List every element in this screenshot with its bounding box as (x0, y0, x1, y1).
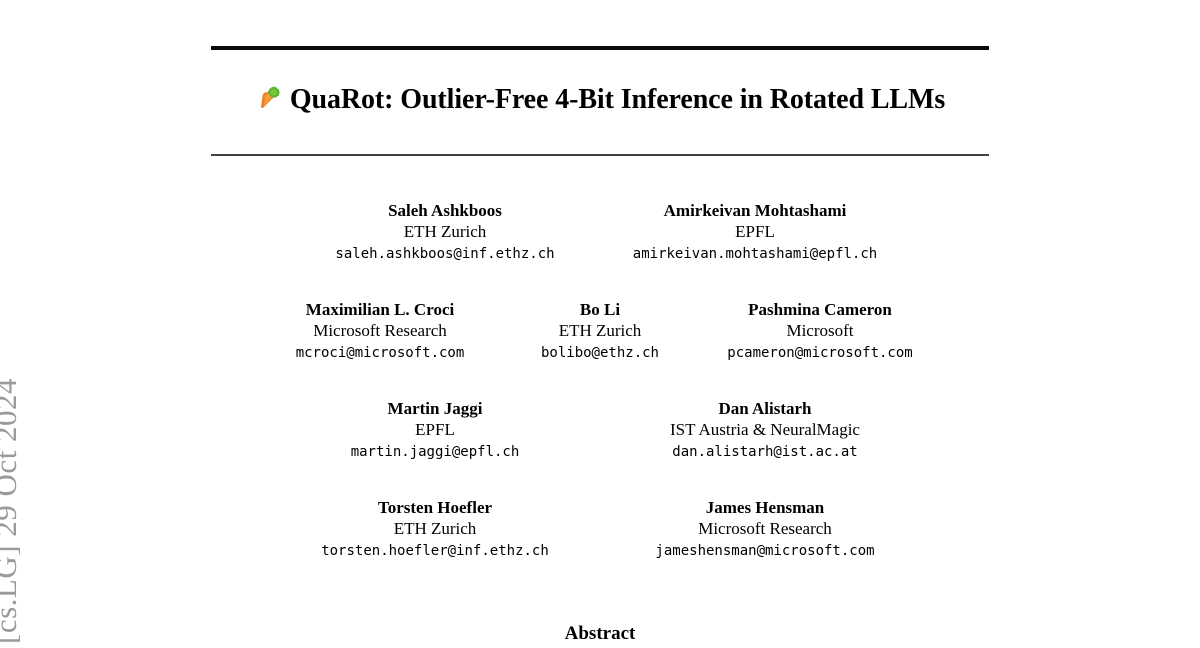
paper-page: QuaRot: Outlier-Free 4-Bit Inference in … (211, 0, 989, 648)
author-name: Dan Alistarh (600, 398, 930, 419)
author-block: Amirkeivan Mohtashami EPFL amirkeivan.mo… (600, 200, 910, 265)
author-email[interactable]: martin.jaggi@epfl.ch (270, 441, 600, 463)
author-email[interactable]: bolibo@ethz.ch (505, 342, 695, 364)
author-affiliation: ETH Zurich (290, 221, 600, 243)
author-name: James Hensman (600, 497, 930, 518)
author-affiliation: Microsoft Research (255, 320, 505, 342)
author-affiliation: ETH Zurich (270, 518, 600, 540)
page-title-text: QuaRot: Outlier-Free 4-Bit Inference in … (290, 83, 945, 117)
author-email[interactable]: dan.alistarh@ist.ac.at (600, 441, 930, 463)
author-email[interactable]: pcameron@microsoft.com (695, 342, 945, 364)
author-block: James Hensman Microsoft Research jameshe… (600, 497, 930, 562)
author-row: Martin Jaggi EPFL martin.jaggi@epfl.ch D… (211, 398, 989, 463)
author-email[interactable]: amirkeivan.mohtashami@epfl.ch (600, 243, 910, 265)
author-name: Bo Li (505, 299, 695, 320)
author-affiliation: Microsoft (695, 320, 945, 342)
author-affiliation: Microsoft Research (600, 518, 930, 540)
page-title: QuaRot: Outlier-Free 4-Bit Inference in … (211, 82, 989, 117)
author-block: Maximilian L. Croci Microsoft Research m… (255, 299, 505, 364)
author-block: Bo Li ETH Zurich bolibo@ethz.ch (505, 299, 695, 364)
author-row: Maximilian L. Croci Microsoft Research m… (211, 299, 989, 364)
author-block: Pashmina Cameron Microsoft pcameron@micr… (695, 299, 945, 364)
author-row: Saleh Ashkboos ETH Zurich saleh.ashkboos… (211, 200, 989, 265)
author-name: Martin Jaggi (270, 398, 600, 419)
author-list: Saleh Ashkboos ETH Zurich saleh.ashkboos… (211, 200, 989, 596)
author-affiliation: IST Austria & NeuralMagic (600, 419, 930, 441)
author-block: Martin Jaggi EPFL martin.jaggi@epfl.ch (270, 398, 600, 463)
author-name: Maximilian L. Croci (255, 299, 505, 320)
author-block: Dan Alistarh IST Austria & NeuralMagic d… (600, 398, 930, 463)
author-email[interactable]: torsten.hoefler@inf.ethz.ch (270, 540, 600, 562)
author-name: Pashmina Cameron (695, 299, 945, 320)
author-email[interactable]: mcroci@microsoft.com (255, 342, 505, 364)
title-bottom-rule (211, 154, 989, 156)
author-block: Saleh Ashkboos ETH Zurich saleh.ashkboos… (290, 200, 600, 265)
author-email[interactable]: saleh.ashkboos@inf.ethz.ch (290, 243, 600, 265)
carrot-icon (255, 85, 281, 111)
author-name: Amirkeivan Mohtashami (600, 200, 910, 221)
arxiv-sidebar-stamp: [cs.LG] 29 Oct 2024 (0, 0, 64, 648)
author-affiliation: EPFL (270, 419, 600, 441)
author-affiliation: ETH Zurich (505, 320, 695, 342)
author-email[interactable]: jameshensman@microsoft.com (600, 540, 930, 562)
author-name: Saleh Ashkboos (290, 200, 600, 221)
author-affiliation: EPFL (600, 221, 910, 243)
author-row: Torsten Hoefler ETH Zurich torsten.hoefl… (211, 497, 989, 562)
author-block: Torsten Hoefler ETH Zurich torsten.hoefl… (270, 497, 600, 562)
abstract-heading: Abstract (211, 622, 989, 646)
title-top-rule (211, 46, 989, 50)
author-name: Torsten Hoefler (270, 497, 600, 518)
arxiv-stamp-text: [cs.LG] 29 Oct 2024 (0, 378, 21, 644)
